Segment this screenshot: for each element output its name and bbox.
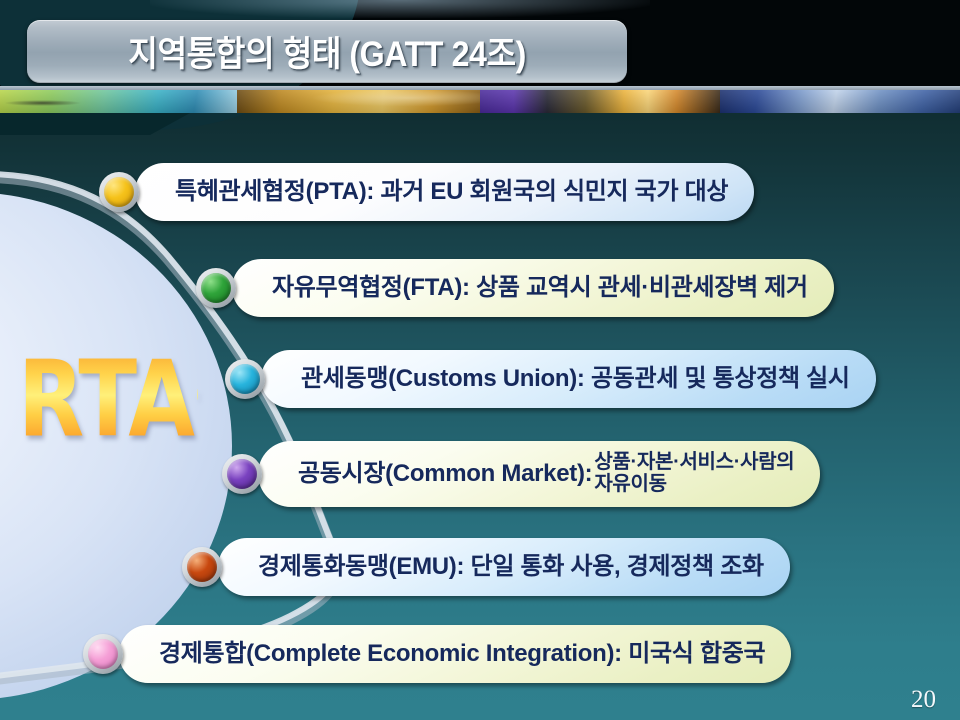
- bullet-green-icon: [196, 268, 236, 308]
- page-title: 지역통합의 형태 (GATT 24조): [128, 26, 526, 77]
- bullet-pink-core: [88, 639, 118, 669]
- bullet-orange-icon: [182, 547, 222, 587]
- pill-customs-union[interactable]: 관세동맹(Customs Union): 공동관세 및 통상정책 실시: [261, 350, 876, 408]
- list-item-fta[interactable]: 자유무역협정(FTA): 상품 교역시 관세·비관세장벽 제거: [232, 259, 834, 317]
- pill-common-market[interactable]: 공동시장(Common Market): 상품·자본·서비스·사람의 자유이동: [258, 441, 820, 507]
- slide-title-plaque: 지역통합의 형태 (GATT 24조): [27, 20, 627, 83]
- bullet-green-core: [201, 273, 231, 303]
- pill-emu[interactable]: 경제통화동맹(EMU): 단일 통화 사용, 경제정책 조화: [218, 538, 790, 596]
- pill-label-common-market-detail: 상품·자본·서비스·사람의 자유이동: [594, 452, 794, 495]
- banner-green-laptop-photo: [0, 88, 237, 113]
- bullet-purple-icon: [222, 454, 262, 494]
- pill-label-complete-economic-integration: 경제통합(Complete Economic Integration): 미국식…: [159, 641, 765, 666]
- pill-label-fta: 자유무역협정(FTA): 상품 교역시 관세·비관세장벽 제거: [272, 275, 808, 300]
- list-item-customs-union[interactable]: 관세동맹(Customs Union): 공동관세 및 통상정책 실시: [261, 350, 876, 408]
- bullet-yellow-core: [104, 177, 134, 207]
- bullet-orange-core: [187, 552, 217, 582]
- bullet-purple-core: [227, 459, 257, 489]
- list-item-pta[interactable]: 특혜관세협정(PTA): 과거 EU 회원국의 식민지 국가 대상: [135, 163, 754, 221]
- pill-pta[interactable]: 특혜관세협정(PTA): 과거 EU 회원국의 식민지 국가 대상: [135, 163, 754, 221]
- bullet-yellow-icon: [99, 172, 139, 212]
- pill-label-common-market-line1: 상품·자본·서비스·사람의: [594, 452, 794, 474]
- pill-label-common-market: 공동시장(Common Market):: [298, 461, 592, 486]
- presentation-slide: RTAs 지역통합의 형태 (GATT 24조) 특혜관세협정(PTA): 과거…: [0, 0, 960, 720]
- list-item-complete-economic-integration[interactable]: 경제통합(Complete Economic Integration): 미국식…: [119, 625, 791, 683]
- list-item-emu[interactable]: 경제통화동맹(EMU): 단일 통화 사용, 경제정책 조화: [218, 538, 790, 596]
- bullet-cyan-icon: [225, 359, 265, 399]
- banner-gold-tools-photo: [237, 88, 480, 113]
- pill-complete-economic-integration[interactable]: 경제통합(Complete Economic Integration): 미국식…: [119, 625, 791, 683]
- banner-corner-wedge: [0, 113, 190, 135]
- banner-top-rule: [0, 86, 960, 90]
- pill-label-pta: 특혜관세협정(PTA): 과거 EU 회원국의 식민지 국가 대상: [175, 179, 728, 204]
- bullet-pink-icon: [83, 634, 123, 674]
- banner-purple-lab-photo: [480, 88, 720, 113]
- pill-label-customs-union: 관세동맹(Customs Union): 공동관세 및 통상정책 실시: [301, 366, 850, 391]
- pill-label-common-market-line2: 자유이동: [594, 474, 794, 496]
- list-item-common-market[interactable]: 공동시장(Common Market): 상품·자본·서비스·사람의 자유이동: [258, 441, 820, 507]
- banner-photo-strip: [0, 88, 960, 113]
- banner-blue-keyboard-photo: [720, 88, 960, 113]
- pill-label-emu: 경제통화동맹(EMU): 단일 통화 사용, 경제정책 조화: [258, 554, 764, 579]
- bullet-cyan-core: [230, 364, 260, 394]
- rtas-brand-label: RTAs: [18, 339, 198, 461]
- page-number: 20: [911, 686, 936, 714]
- pill-fta[interactable]: 자유무역협정(FTA): 상품 교역시 관세·비관세장벽 제거: [232, 259, 834, 317]
